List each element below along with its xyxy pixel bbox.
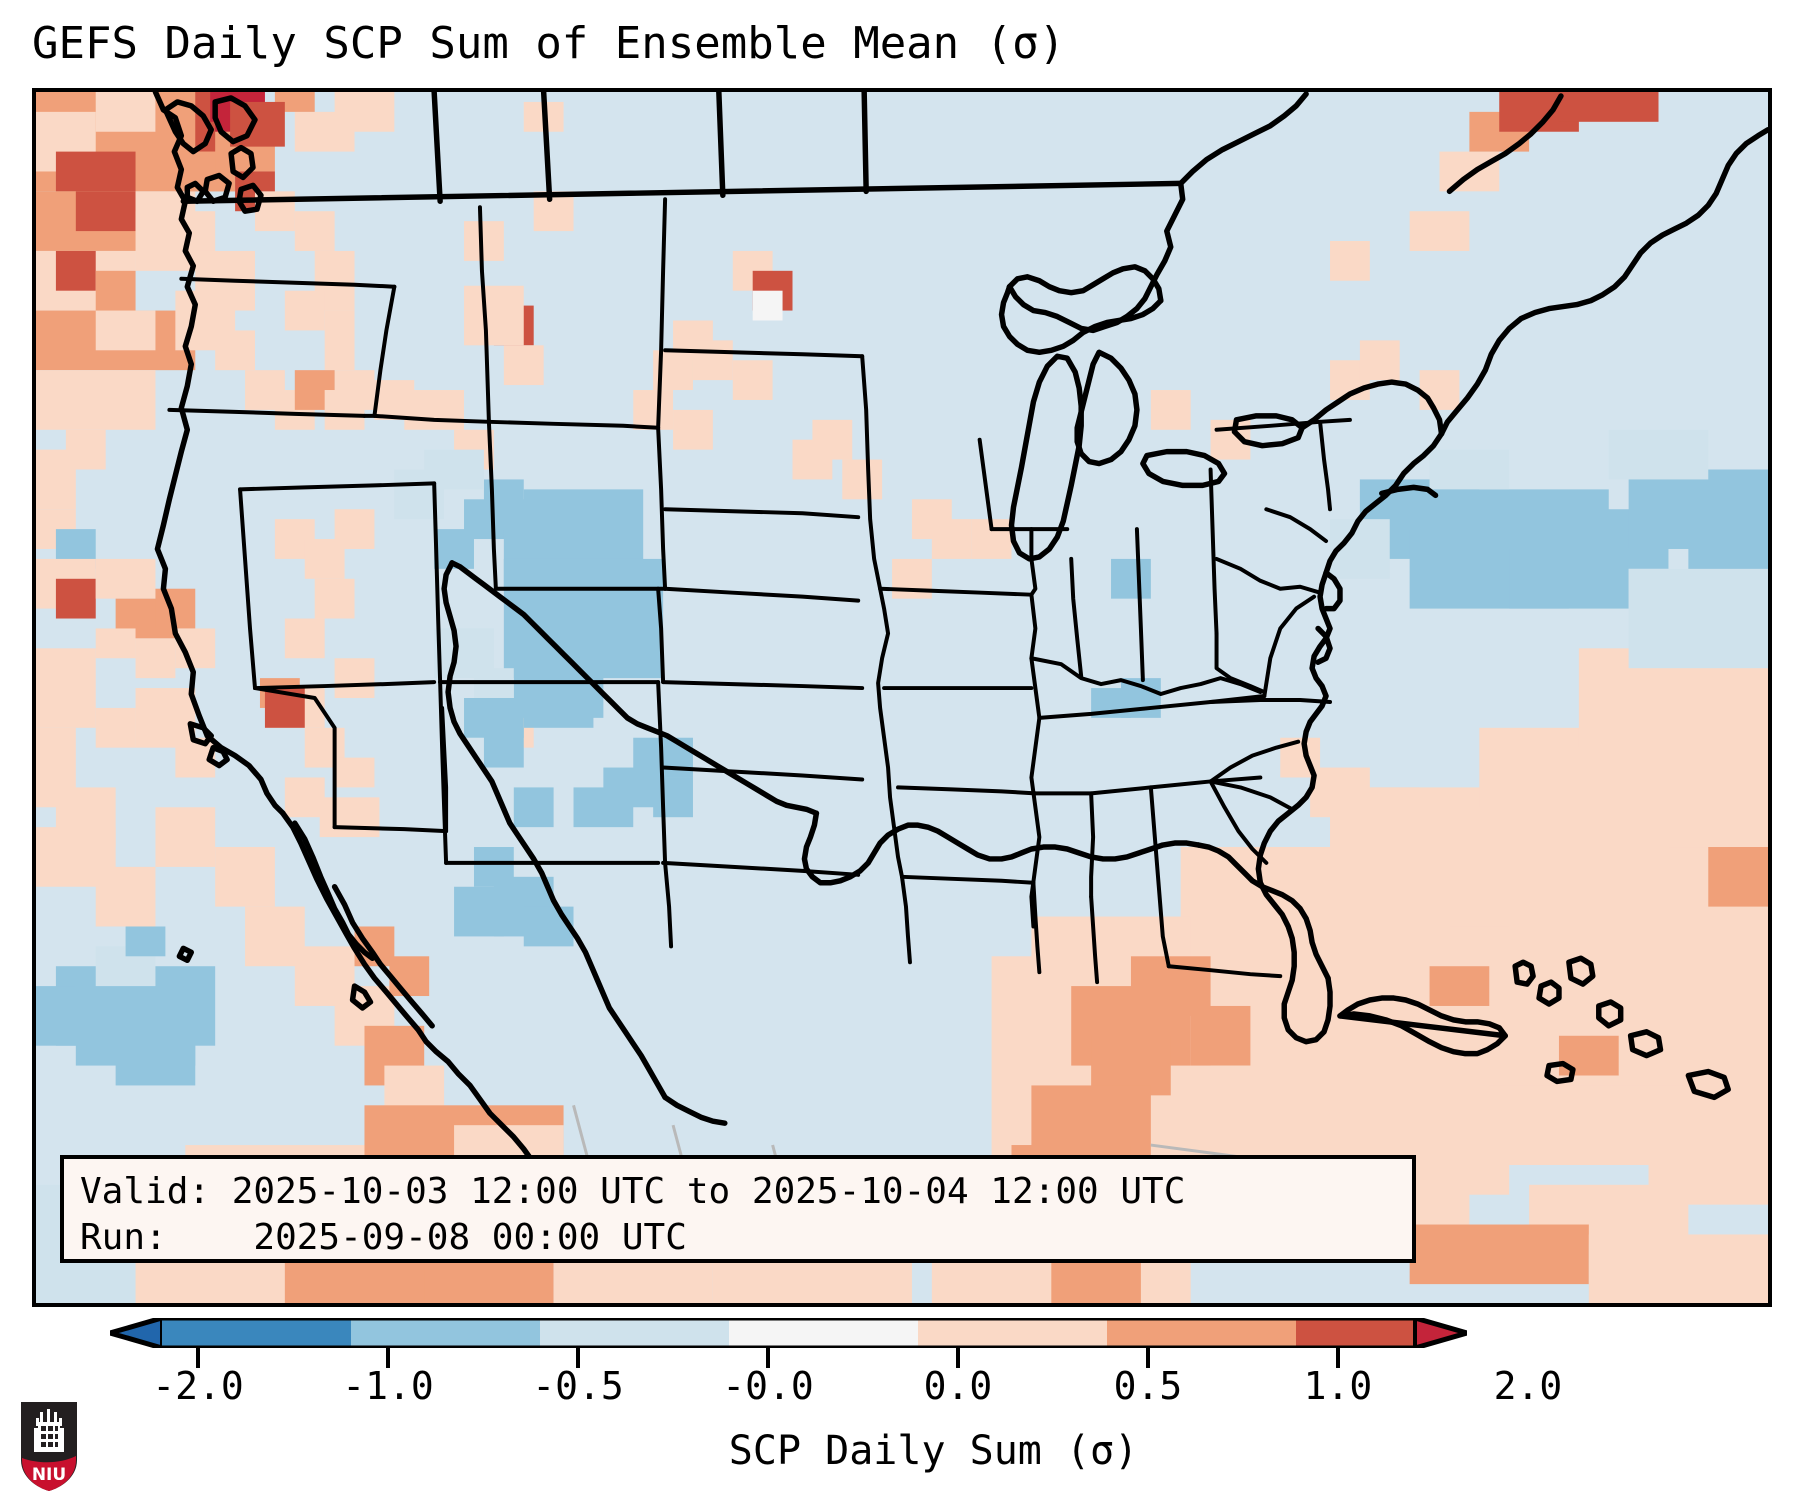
- cbar-tick-label-0: -2.0: [152, 1364, 244, 1408]
- map-plot-area[interactable]: [32, 88, 1772, 1307]
- valid-run-info-box: Valid: 2025-10-03 12:00 UTC to 2025-10-0…: [60, 1155, 1416, 1263]
- cbar-tick-label-7: 2.0: [1494, 1364, 1563, 1408]
- cbar-tick-label-1: -1.0: [342, 1364, 434, 1408]
- cbar-tick-label-5: 0.5: [1114, 1364, 1183, 1408]
- cbar-tick-label-6: 1.0: [1304, 1364, 1373, 1408]
- niu-logo: NIU: [18, 1398, 80, 1494]
- cbar-tick-label-4: 0.0: [924, 1364, 993, 1408]
- figure-canvas: GEFS Daily SCP Sum of Ensemble Mean (σ): [0, 0, 1803, 1506]
- colorbar-axis-label-text: SCP Daily Sum (σ): [729, 1428, 1138, 1474]
- page-title: GEFS Daily SCP Sum of Ensemble Mean (σ): [32, 18, 1065, 69]
- colorbar-axis-label: SCP Daily Sum (σ): [0, 1428, 1803, 1474]
- cbar-tick-label-3: -0.0: [722, 1364, 814, 1408]
- map-canvas: [36, 92, 1768, 1303]
- valid-time-line: Valid: 2025-10-03 12:00 UTC to 2025-10-0…: [80, 1169, 1396, 1215]
- colorbar-swatches: [110, 1318, 1467, 1348]
- cbar-tick-label-2: -0.5: [532, 1364, 624, 1408]
- niu-logo-text: NIU: [32, 1465, 66, 1485]
- run-time-line: Run: 2025-09-08 00:00 UTC: [80, 1215, 1396, 1261]
- colorbar[interactable]: [110, 1318, 1467, 1348]
- niu-castle-windows: [41, 1426, 58, 1447]
